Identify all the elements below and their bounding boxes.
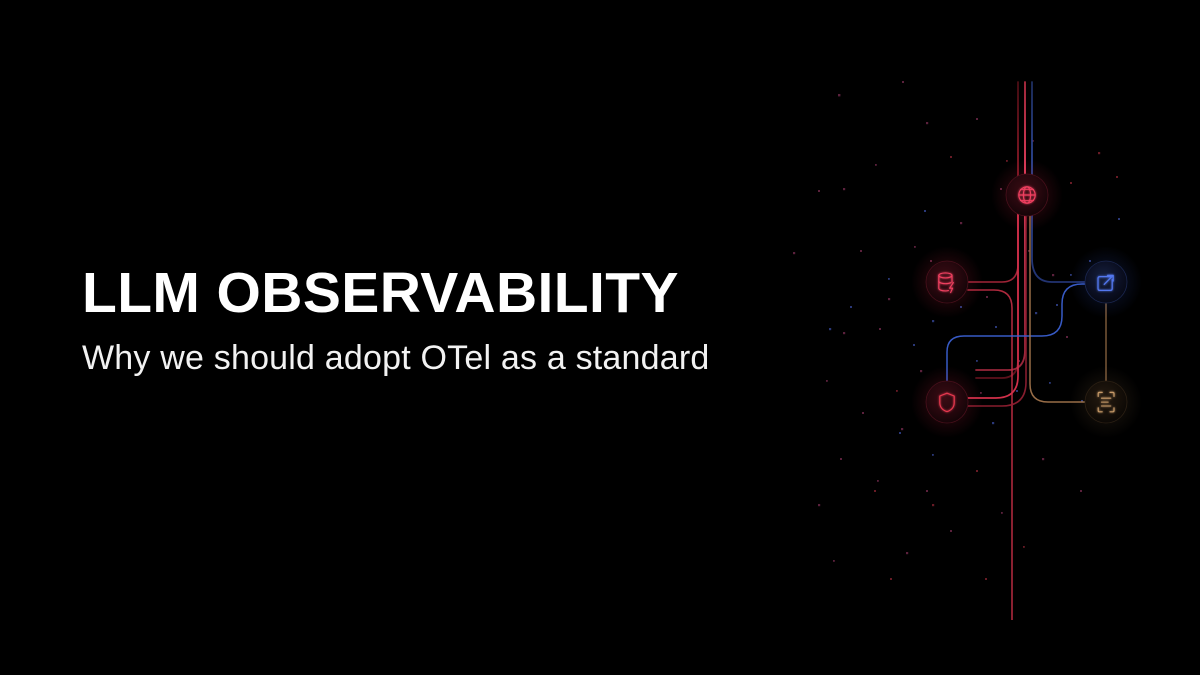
database-node-circle xyxy=(926,261,968,303)
external-link-node[interactable] xyxy=(1070,246,1142,318)
globe-node[interactable] xyxy=(991,159,1063,231)
page-subtitle: Why we should adopt OTel as a standard xyxy=(82,336,742,381)
observability-network-diagram xyxy=(780,60,1200,620)
scan-node[interactable] xyxy=(1070,366,1142,438)
edge-database-to-trunk-inner xyxy=(968,290,1012,620)
particle-field xyxy=(793,81,1120,580)
slide-root: LLM OBSERVABILITY Why we should adopt OT… xyxy=(0,0,1200,675)
globe-icon xyxy=(1019,187,1035,203)
shield-node[interactable] xyxy=(911,366,983,438)
title-block: LLM OBSERVABILITY Why we should adopt OT… xyxy=(82,262,782,381)
shield-node-circle xyxy=(926,381,968,423)
page-title: LLM OBSERVABILITY xyxy=(82,262,782,324)
database-node[interactable] xyxy=(911,246,983,318)
